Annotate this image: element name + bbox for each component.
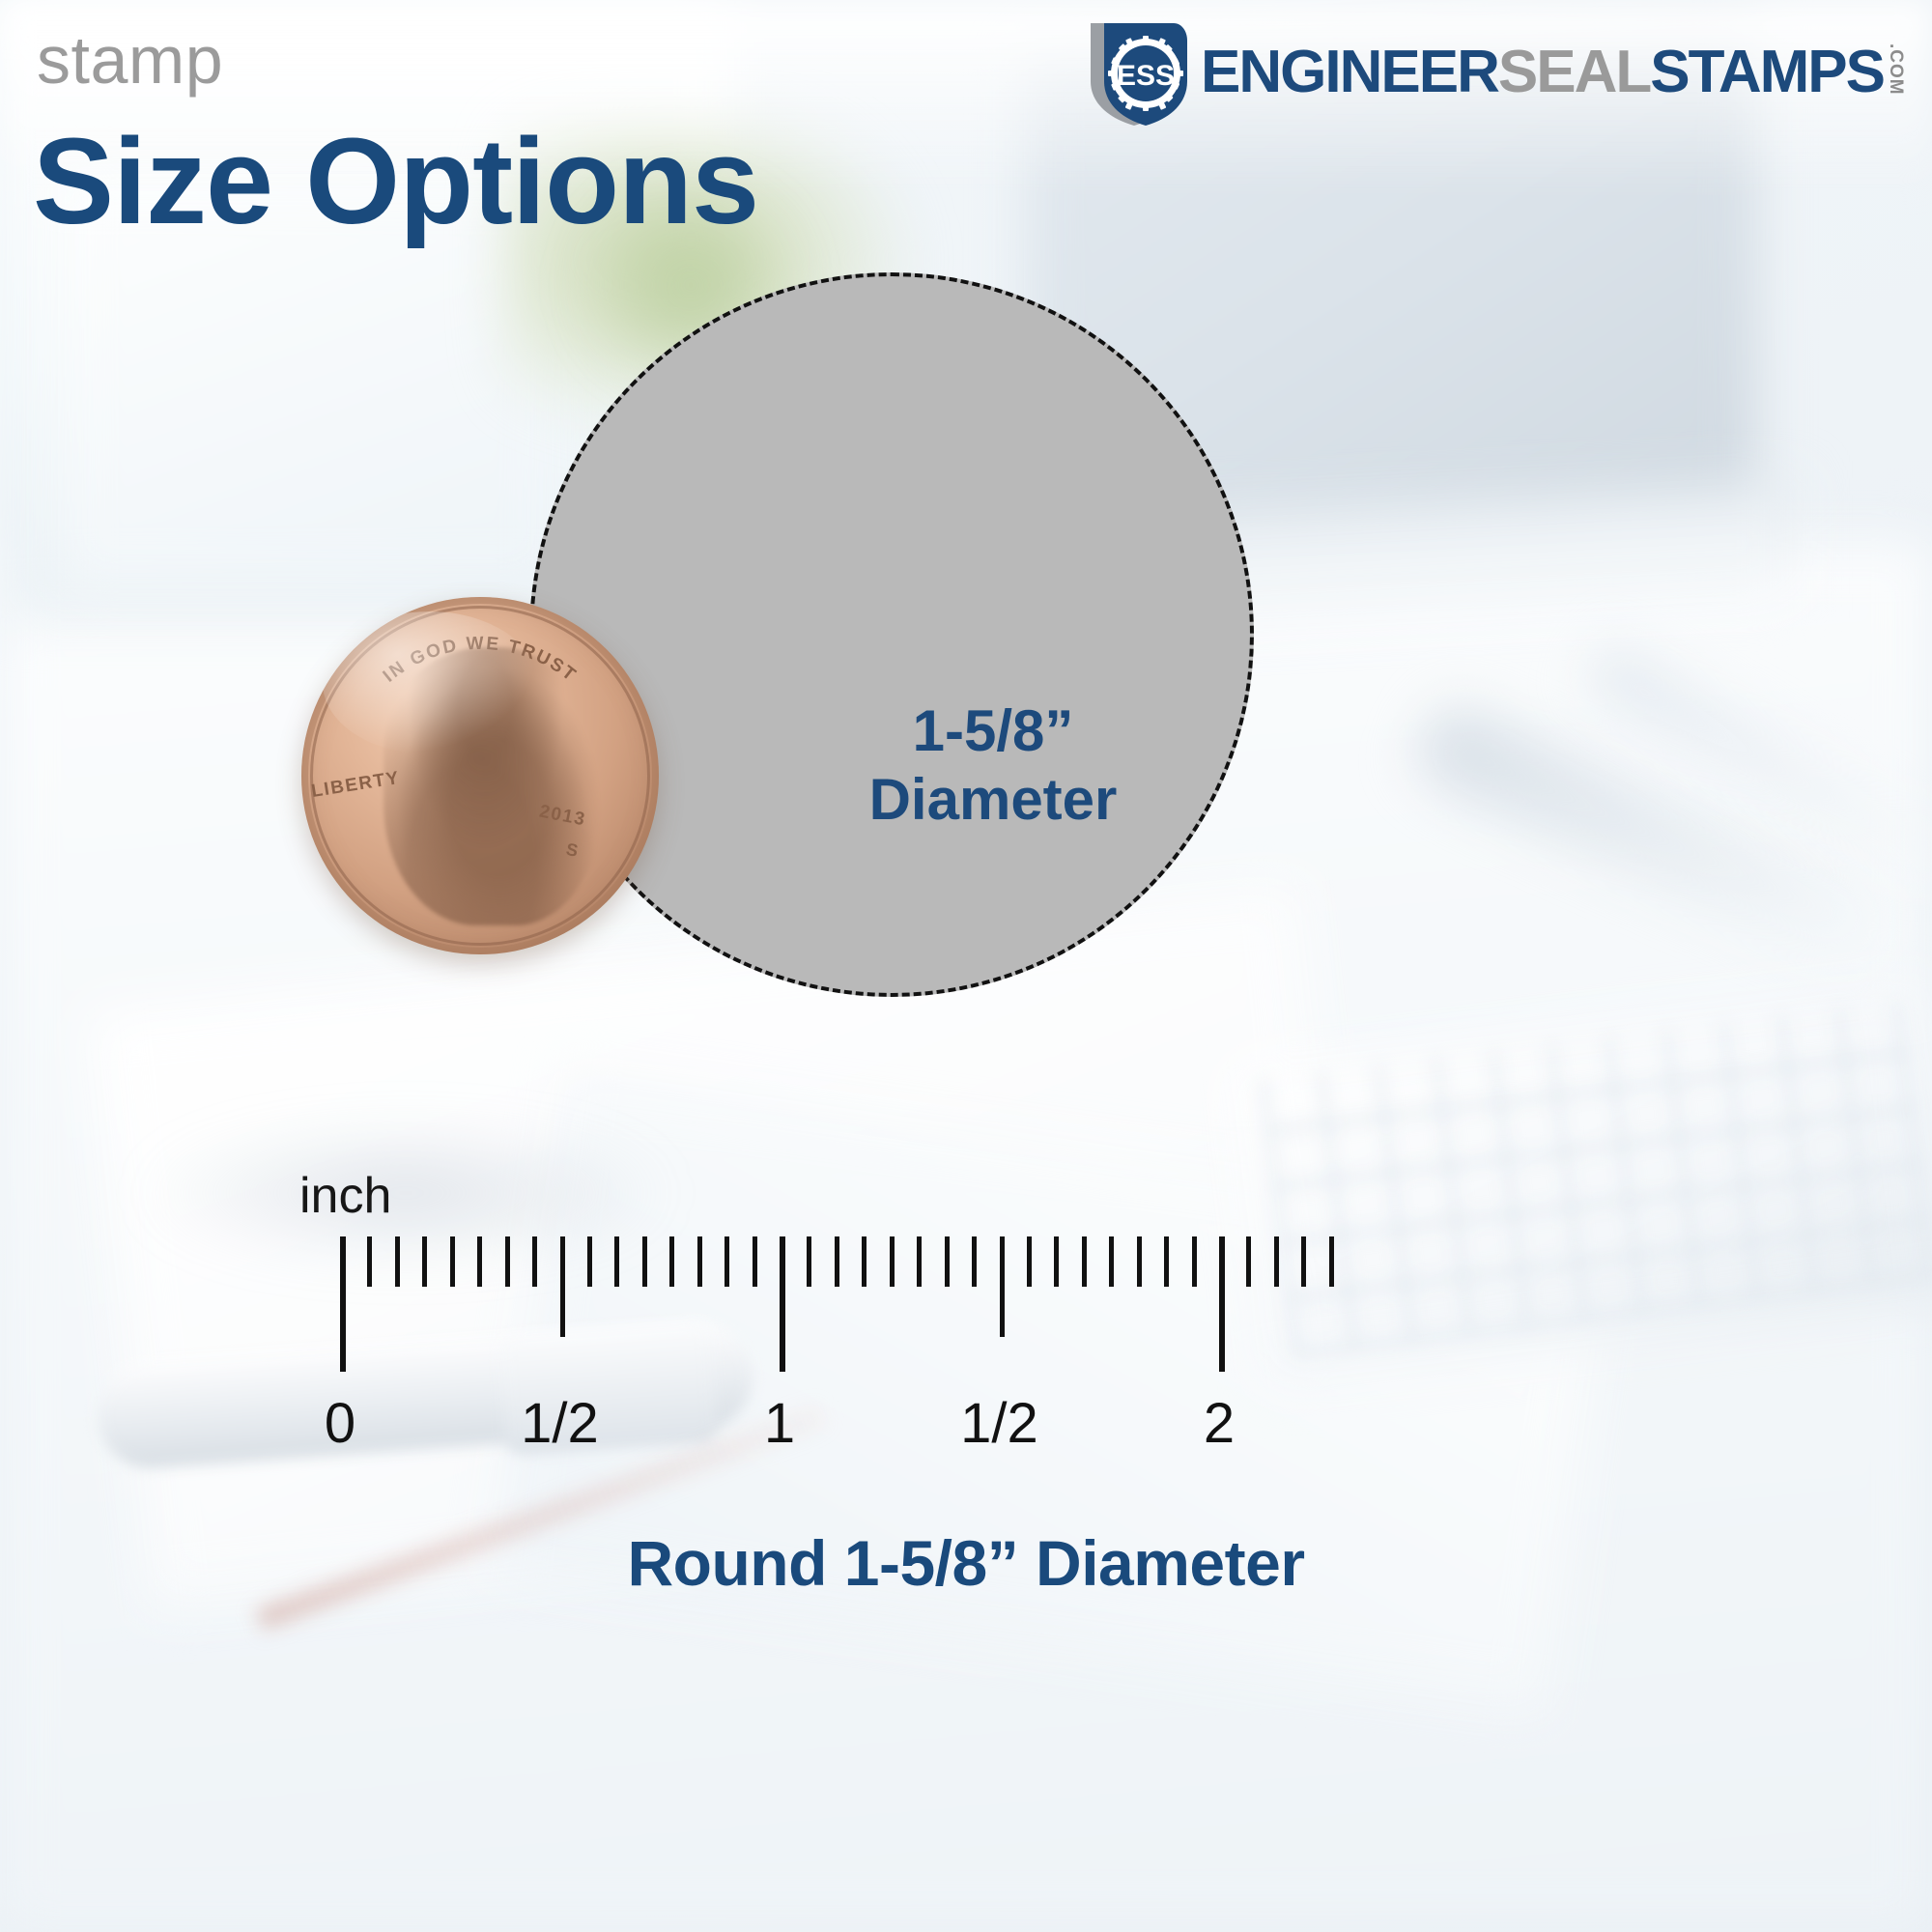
logo-word-seal: SEAL	[1498, 44, 1650, 99]
ruler-tick	[1027, 1236, 1032, 1287]
ruler-tick	[395, 1236, 400, 1287]
ruler-tick	[1164, 1236, 1169, 1287]
size-dimension: 1-5/8”	[869, 697, 1118, 766]
ruler-tick	[587, 1236, 592, 1287]
logo-tld: .COM	[1887, 43, 1905, 96]
logo-wordmark: ENGINEER SEAL STAMPS .COM	[1201, 43, 1905, 99]
ruler-label: 1	[764, 1391, 795, 1456]
ruler-tick	[669, 1236, 674, 1287]
ruler-tick	[780, 1236, 785, 1372]
ruler-tick	[532, 1236, 537, 1287]
ruler-tick	[1082, 1236, 1087, 1287]
ruler-unit-label: inch	[299, 1167, 391, 1225]
ruler-tick	[1137, 1236, 1142, 1287]
ruler-tick	[972, 1236, 977, 1287]
size-caption: Round 1-5/8” Diameter	[0, 1526, 1932, 1600]
ruler-tick	[724, 1236, 729, 1287]
ruler-tick	[340, 1236, 346, 1372]
ruler-tick	[560, 1236, 565, 1337]
ruler-label: 0	[325, 1391, 355, 1456]
ruler-tick	[1219, 1236, 1225, 1372]
penny-coin: IN GOD WE TRUST LIBERTY 2013 S	[301, 597, 659, 954]
ruler-tick	[1274, 1236, 1279, 1287]
size-dimension-word: Diameter	[869, 766, 1118, 835]
ruler-tick	[505, 1236, 510, 1287]
ruler-tick	[945, 1236, 950, 1287]
size-options-graphic: stamp Size Options	[0, 0, 1932, 1932]
ruler-tick	[1329, 1236, 1334, 1287]
inch-ruler: inch 01/211/22	[299, 1236, 1575, 1459]
brand-logo[interactable]: ESS ENGINEER SEAL STAMPS .COM	[1085, 15, 1905, 128]
ruler-tick	[753, 1236, 757, 1287]
ruler-tick	[642, 1236, 647, 1287]
ruler-tick	[614, 1236, 619, 1287]
ruler-tick	[697, 1236, 702, 1287]
ruler-tick	[422, 1236, 427, 1287]
ruler-label: 1/2	[521, 1391, 599, 1456]
ruler-tick	[1109, 1236, 1114, 1287]
ruler-tick	[1000, 1236, 1005, 1337]
ruler-tick	[1301, 1236, 1306, 1287]
ruler-tick	[807, 1236, 811, 1287]
ruler-label: 1/2	[960, 1391, 1038, 1456]
ruler-tick	[835, 1236, 839, 1287]
size-circle-label: 1-5/8” Diameter	[869, 697, 1118, 835]
ruler-tick	[1054, 1236, 1059, 1287]
logo-word-stamps: STAMPS	[1650, 44, 1884, 99]
ruler-tick	[477, 1236, 482, 1287]
ruler-tick	[1192, 1236, 1197, 1287]
logo-word-engineer: ENGINEER	[1201, 44, 1498, 99]
ess-badge-icon: ESS	[1085, 15, 1193, 128]
ruler-label: 2	[1204, 1391, 1235, 1456]
ruler-tick	[1246, 1236, 1251, 1287]
kicker-label: stamp	[37, 21, 223, 99]
coin-gloss	[323, 611, 537, 754]
svg-text:ESS: ESS	[1117, 60, 1175, 92]
page-title: Size Options	[33, 121, 758, 242]
ruler-tick	[450, 1236, 455, 1287]
ruler-tick	[890, 1236, 895, 1287]
ruler-tick	[862, 1236, 867, 1287]
ruler-tick	[917, 1236, 922, 1287]
ruler-tick	[367, 1236, 372, 1287]
